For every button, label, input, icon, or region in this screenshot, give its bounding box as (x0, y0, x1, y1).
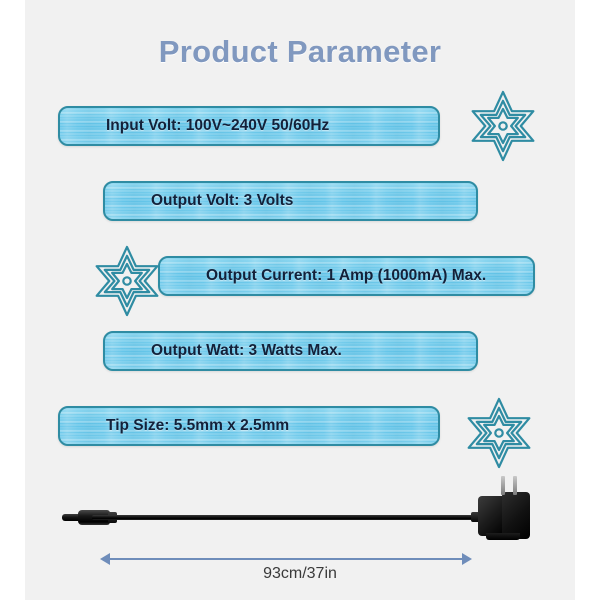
parameter-label-output-volt: Output Volt: 3 Volts (105, 192, 293, 210)
wall-adapter-face (502, 492, 530, 539)
parameter-bar-input-volt: Input Volt: 100V~240V 50/60Hz (58, 106, 440, 146)
parameter-bar-tip-size: Tip Size: 5.5mm x 2.5mm (58, 406, 440, 446)
parameter-label-output-watt: Output Watt: 3 Watts Max. (105, 342, 342, 360)
ac-prong-right (513, 476, 517, 495)
parameter-bar-output-current: Output Current: 1 Amp (1000mA) Max. (158, 256, 535, 296)
dimension-arrow (100, 553, 472, 565)
six-point-star-icon (466, 89, 540, 163)
dimension-label: 93cm/37in (0, 565, 600, 583)
arrow-head-right-icon (462, 553, 472, 565)
six-point-star-icon (90, 244, 164, 318)
parameter-label-input-volt: Input Volt: 100V~240V 50/60Hz (60, 117, 329, 135)
parameter-label-tip-size: Tip Size: 5.5mm x 2.5mm (60, 417, 289, 435)
product-parameter-infographic: Product Parameter Input Volt: 100V~240V … (0, 0, 600, 600)
page-title: Product Parameter (0, 34, 600, 70)
ac-prong-left (501, 476, 505, 495)
dimension-line (107, 558, 465, 560)
wall-adapter-base (486, 533, 520, 540)
product-photo (0, 470, 600, 545)
power-cable (92, 515, 482, 520)
parameter-bar-output-watt: Output Watt: 3 Watts Max. (103, 331, 478, 371)
six-point-star-icon (462, 396, 536, 470)
parameter-bar-output-volt: Output Volt: 3 Volts (103, 181, 478, 221)
parameter-label-output-current: Output Current: 1 Amp (1000mA) Max. (160, 267, 486, 285)
